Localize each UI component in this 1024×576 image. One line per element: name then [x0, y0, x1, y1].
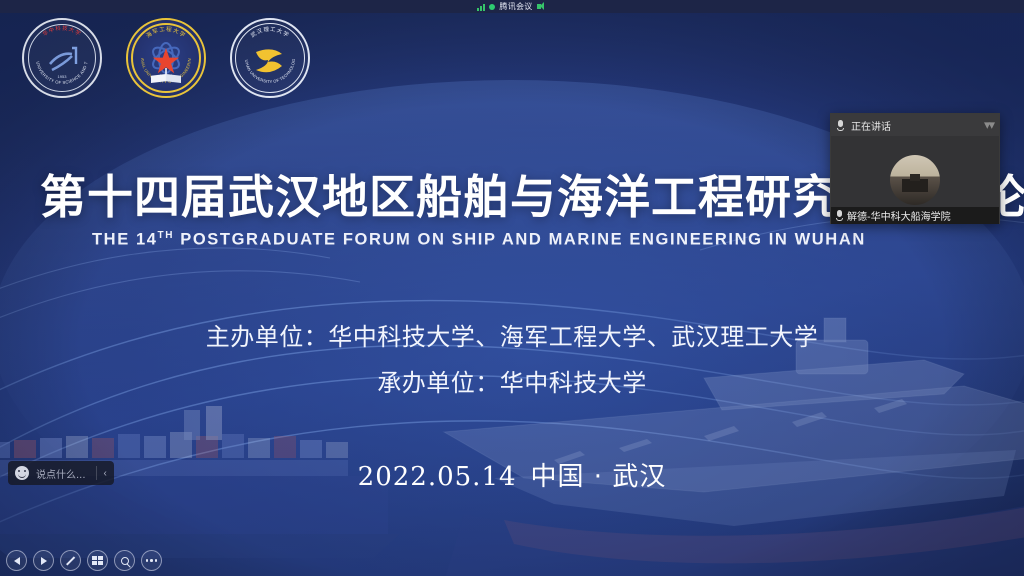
previous-slide-icon[interactable]: [6, 550, 27, 571]
logo-nue: 海军工程大学 NAVAL UNIVERSITY OF ENGINEERING: [126, 18, 206, 98]
speaker-icon: [537, 2, 547, 11]
emoji-icon[interactable]: [15, 466, 29, 480]
microphone-icon: [836, 210, 843, 221]
next-slide-icon[interactable]: [33, 550, 54, 571]
microphone-icon: [837, 120, 844, 131]
participant-name-bar: 解德-华中科大船海学院: [831, 207, 999, 224]
meeting-status-chip[interactable]: 腾讯会议: [477, 0, 546, 13]
chat-collapse-button[interactable]: ‹: [97, 468, 114, 479]
host-line: 承办单位：华中科技大学: [0, 363, 1024, 398]
svg-text:海军工程大学: 海军工程大学: [144, 25, 187, 40]
slide-title-english-pre: THE 14: [92, 231, 158, 249]
event-location: 中国 · 武汉: [531, 462, 667, 492]
meeting-status-bar: 腾讯会议: [0, 0, 1024, 13]
university-logos: 华中科技大学 UNIVERSITY OF SCIENCE AND T 1953 …: [22, 18, 310, 98]
svg-text:1953: 1953: [58, 74, 68, 79]
slide-title-english-ordinal: TH: [158, 230, 175, 241]
collapse-chevron-icon[interactable]: ▾▾: [984, 117, 993, 133]
svg-text:华中科技大学: 华中科技大学: [41, 24, 83, 38]
magnifier-icon[interactable]: [114, 550, 135, 571]
chat-input-bar[interactable]: 说点什么... ‹: [8, 461, 114, 485]
presentation-slide-stage: 腾讯会议 华中科技大学 UNIVERSITY OF SCIENCE AND T: [0, 0, 1024, 576]
pen-icon[interactable]: [60, 550, 81, 571]
logo-hust: 华中科技大学 UNIVERSITY OF SCIENCE AND T 1953: [22, 18, 102, 98]
more-options-icon[interactable]: [141, 550, 162, 571]
slide-title-english: THE 14TH POSTGRADUATE FORUM ON SHIP AND …: [92, 230, 866, 250]
recording-dot-icon: [489, 4, 495, 10]
video-thumbnail-panel[interactable]: 正在讲话 ▾▾ 解德-华中科大船海学院: [830, 113, 1000, 224]
signal-bars-icon: [477, 3, 485, 11]
meeting-app-name: 腾讯会议: [499, 0, 532, 13]
video-feed-area[interactable]: 解德-华中科大船海学院: [831, 136, 999, 224]
event-date: 2022.05.14: [358, 462, 517, 492]
participant-name: 解德-华中科大船海学院: [847, 208, 951, 223]
video-panel-header: 正在讲话 ▾▾: [831, 114, 999, 136]
slides-grid-icon[interactable]: [87, 550, 108, 571]
avatar: [890, 155, 940, 205]
date-location-line: 2022.05.14中国 · 武汉: [0, 456, 1024, 493]
speaking-status-label: 正在讲话: [851, 118, 891, 133]
chat-input-placeholder[interactable]: 说点什么...: [36, 466, 96, 481]
organizer-line: 主办单位：华中科技大学、海军工程大学、武汉理工大学: [0, 317, 1024, 352]
logo-whut: 武汉理工大学 WUHAN UNIVERSITY OF TECHNOLOGY: [230, 18, 310, 98]
slide-toolbar: [6, 550, 162, 571]
slide-title-english-post: POSTGRADUATE FORUM ON SHIP AND MARINE EN…: [174, 231, 866, 249]
svg-text:武汉理工大学: 武汉理工大学: [249, 26, 291, 39]
